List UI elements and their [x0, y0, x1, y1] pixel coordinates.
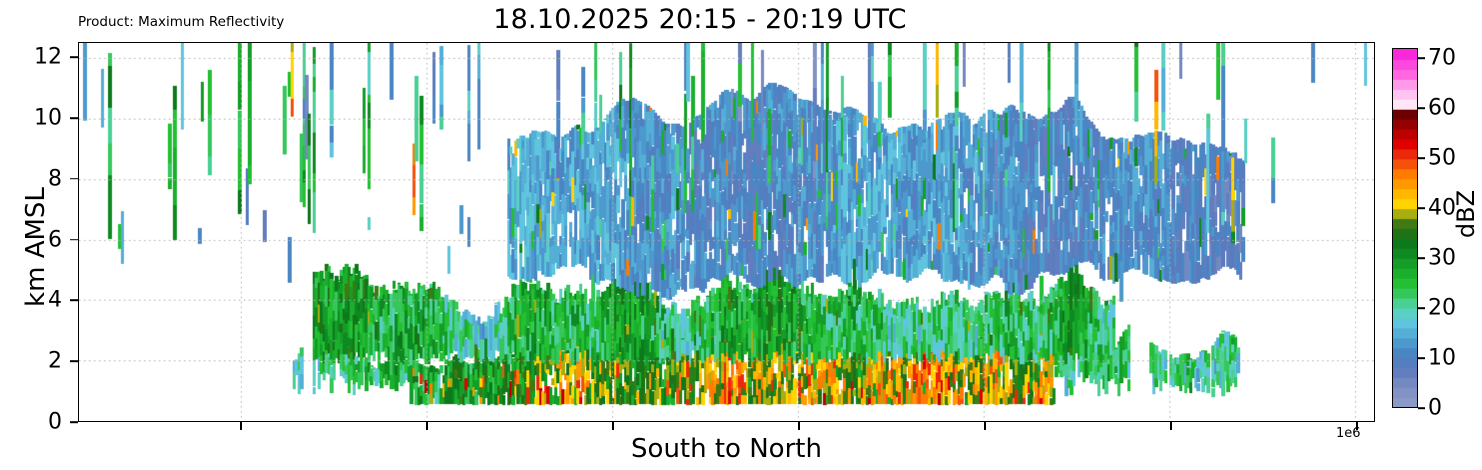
x-axis-label: South to North	[78, 434, 1375, 464]
colorbar-tick-mark	[1418, 407, 1425, 409]
colorbar-tick-label: 50	[1428, 146, 1456, 171]
y-tick-mark	[70, 300, 78, 302]
y-tick-mark	[70, 421, 78, 423]
colorbar-tick-label: 0	[1428, 396, 1442, 421]
colorbar-tick-mark	[1418, 157, 1425, 159]
y-tick-mark	[70, 178, 78, 180]
colorbar-tick-mark	[1418, 257, 1425, 259]
reflectivity-raster	[79, 43, 1374, 421]
colorbar-tick-mark	[1418, 307, 1425, 309]
y-tick-mark	[70, 239, 78, 241]
colorbar-tick-mark	[1418, 207, 1425, 209]
y-tick-label: 6	[2, 227, 62, 252]
x-axis-offset-text: 1e6	[1336, 426, 1361, 441]
y-tick-label: 12	[2, 45, 62, 70]
colorbar-tick-label: 70	[1428, 46, 1456, 71]
x-tick-mark	[798, 422, 800, 430]
colorbar-tick-mark	[1418, 357, 1425, 359]
colorbar-gradient	[1392, 48, 1418, 408]
colorbar-tick-label: 10	[1428, 346, 1456, 371]
reflectivity-curtain-plot	[78, 42, 1375, 422]
y-tick-label: 0	[2, 410, 62, 435]
colorbar-canvas	[1393, 49, 1417, 407]
product-annotation: Product: Maximum Reflectivity	[78, 14, 284, 30]
y-tick-label: 4	[2, 288, 62, 313]
y-tick-mark	[70, 117, 78, 119]
colorbar-tick-mark	[1418, 107, 1425, 109]
x-tick-mark	[240, 422, 242, 430]
colorbar-tick-label: 60	[1428, 96, 1456, 121]
x-tick-mark	[1170, 422, 1172, 430]
x-tick-mark	[612, 422, 614, 430]
colorbar-label: dBZ	[1452, 190, 1480, 238]
colorbar-tick-label: 30	[1428, 246, 1456, 271]
y-tick-mark	[70, 360, 78, 362]
colorbar-tick-label: 20	[1428, 296, 1456, 321]
y-tick-label: 2	[2, 349, 62, 374]
x-tick-mark	[984, 422, 986, 430]
colorbar-tick-mark	[1418, 57, 1425, 59]
y-tick-label: 8	[2, 166, 62, 191]
x-tick-mark	[426, 422, 428, 430]
y-tick-label: 10	[2, 106, 62, 131]
y-tick-mark	[70, 56, 78, 58]
